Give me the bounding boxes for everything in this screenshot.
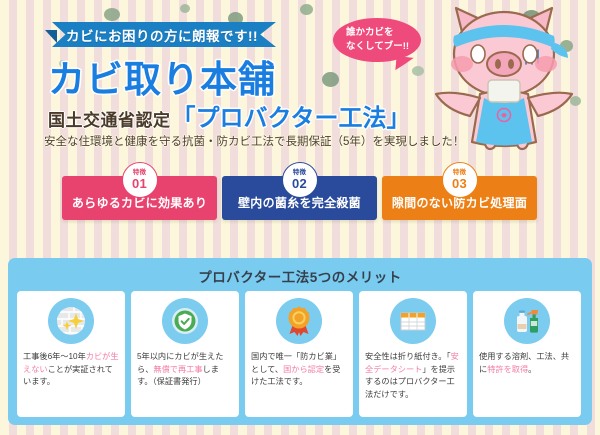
pig-mascot-illustration xyxy=(426,2,598,154)
mold-blob-icon xyxy=(104,8,120,21)
award-rosette-icon xyxy=(276,298,322,344)
announcement-ribbon: カビにお困りの方に朗報です!! xyxy=(52,22,276,47)
speech-line-2: なくしてブー!! xyxy=(346,40,421,54)
feature-number-03: 特徴 03 xyxy=(442,162,478,198)
shield-check-icon xyxy=(162,298,208,344)
page-title: カビ取り本舗 xyxy=(48,49,276,103)
feature-number: 01 xyxy=(132,177,147,190)
benefit-card[interactable]: 使用する溶剤、工法、共に特許を取得。 xyxy=(473,291,581,417)
feature-badge-01[interactable]: 特徴 01 あらゆるカビに効果あり xyxy=(62,176,217,220)
feature-number-02: 特徴 02 xyxy=(282,162,318,198)
mold-blob-icon xyxy=(180,4,190,13)
benefit-text: 安全性は折り紙付き。「安全データシート」を提示するのはプロバクター工法だけです。 xyxy=(365,351,461,402)
brick-wall-sparkle-icon xyxy=(48,298,94,344)
page-root: カビにお困りの方に朗報です!! カビ取り本舗 国土交通省認定 「プロバクター工法… xyxy=(0,0,600,435)
method-name-label: 「プロバクター工法」 xyxy=(172,98,411,133)
benefit-text: 使用する溶剤、工法、共に特許を取得。 xyxy=(479,351,575,376)
benefit-text: 工事後6年～10年カビが生えないことが実証されています。 xyxy=(23,351,119,389)
data-sheet-table-icon xyxy=(390,298,436,344)
mold-blob-icon xyxy=(322,72,339,87)
feature-number: 02 xyxy=(292,177,307,190)
benefit-card[interactable]: 国内で唯一「防カビ業」として、国から認定を受けた工法です。 xyxy=(245,291,353,417)
subtitle: 国土交通省認定 「プロバクター工法」 xyxy=(48,98,411,133)
lead-paragraph: 安全な住環境と健康を守る抗菌・防カビ工法で長期保証（5年）を実現しました！ xyxy=(44,133,464,149)
benefit-card[interactable]: 安全性は折り紙付き。「安全データシート」を提示するのはプロバクター工法だけです。 xyxy=(359,291,467,417)
certification-label: 国土交通省認定 xyxy=(48,106,171,131)
ribbon-tail xyxy=(45,30,57,43)
benefits-title: プロバクター工法5つのメリット xyxy=(8,266,592,286)
speech-line-1: 誰かカビを xyxy=(346,26,421,40)
feature-badge-03[interactable]: 特徴 03 隙間のない防カビ処理面 xyxy=(382,176,537,220)
mascot-speech-bubble: 誰かカビを なくしてブー!! xyxy=(333,18,421,62)
feature-number: 03 xyxy=(452,177,467,190)
mold-blob-icon xyxy=(300,4,313,15)
benefit-card-list: 工事後6年～10年カビが生えないことが実証されています。 5年以内にカビが生えた… xyxy=(17,291,583,417)
benefit-text: 5年以内にカビが生えたら、無償で再工事します。（保証書発行） xyxy=(137,351,233,389)
benefit-card[interactable]: 5年以内にカビが生えたら、無償で再工事します。（保証書発行） xyxy=(131,291,239,417)
feature-badge-02[interactable]: 特徴 02 壁内の菌糸を完全殺菌 xyxy=(222,176,377,220)
feature-number-01: 特徴 01 xyxy=(122,162,158,198)
benefit-card[interactable]: 工事後6年～10年カビが生えないことが実証されています。 xyxy=(17,291,125,417)
benefit-text: 国内で唯一「防カビ業」として、国から認定を受けた工法です。 xyxy=(251,351,347,389)
spray-bottles-icon xyxy=(504,298,550,344)
mold-blob-icon xyxy=(412,66,424,76)
benefits-panel: プロバクター工法5つのメリット xyxy=(8,258,592,425)
